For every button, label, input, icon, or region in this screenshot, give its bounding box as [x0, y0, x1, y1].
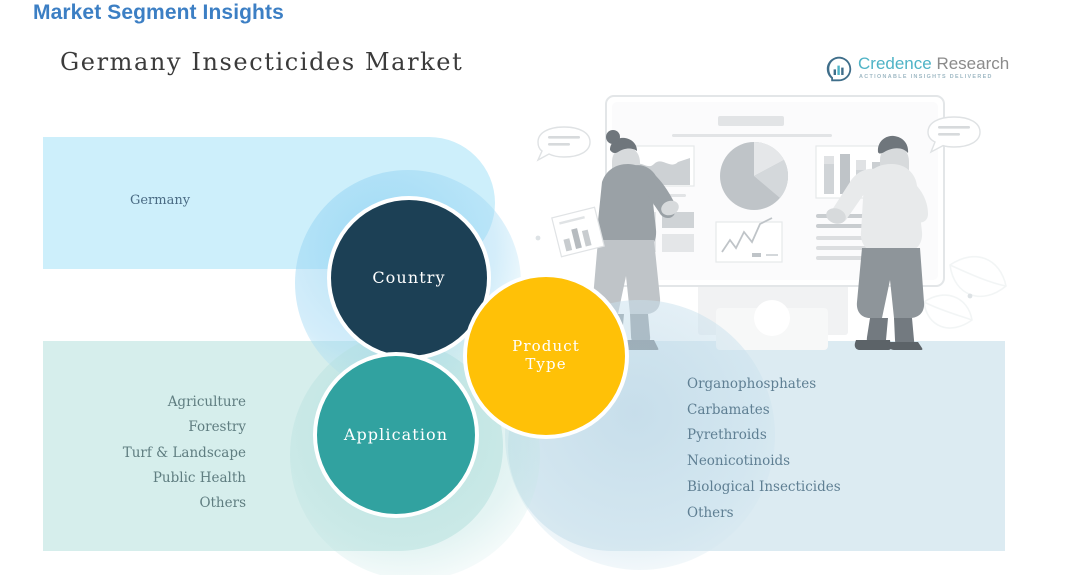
logo-tagline: Actionable Insights Delivered [859, 74, 993, 80]
logo-name-primary: Credence [858, 54, 932, 73]
list-item: Biological Insecticides [687, 475, 841, 501]
list-item: Public Health [40, 466, 246, 491]
slide-canvas: Market Segment Insights Germany Insectic… [0, 0, 1086, 575]
logo-wordmark: Credence Research [858, 54, 1009, 73]
list-item: Organophosphates [687, 372, 841, 398]
brand-logo: Credence Research Actionable Insights De… [826, 55, 996, 87]
application-bubble[interactable]: Application [313, 352, 479, 518]
application-bubble-label: Application [344, 425, 448, 445]
logo-mark-icon [826, 56, 852, 82]
country-item-list: Germany [50, 193, 270, 208]
list-item: Germany [50, 193, 270, 208]
list-item: Turf & Landscape [40, 441, 246, 466]
page-title: Market Segment Insights [33, 0, 284, 26]
chart-title: Germany Insecticides Market [60, 48, 463, 76]
list-item: Forestry [40, 415, 246, 440]
product-type-item-list: Organophosphates Carbamates Pyrethroids … [687, 372, 841, 526]
list-item: Pyrethroids [687, 423, 841, 449]
list-item: Others [687, 501, 841, 527]
application-item-list: Agriculture Forestry Turf & Landscape Pu… [40, 390, 246, 516]
product-type-bubble-label-line1: Product [512, 337, 580, 355]
logo-name-secondary: Research [936, 54, 1009, 73]
list-item: Agriculture [40, 390, 246, 415]
product-type-bubble[interactable]: Product Type [463, 273, 629, 439]
list-item: Others [40, 491, 246, 516]
product-type-bubble-label-line2: Type [512, 355, 580, 373]
list-item: Neonicotinoids [687, 449, 841, 475]
list-item: Carbamates [687, 398, 841, 424]
country-bubble-label: Country [372, 268, 445, 288]
